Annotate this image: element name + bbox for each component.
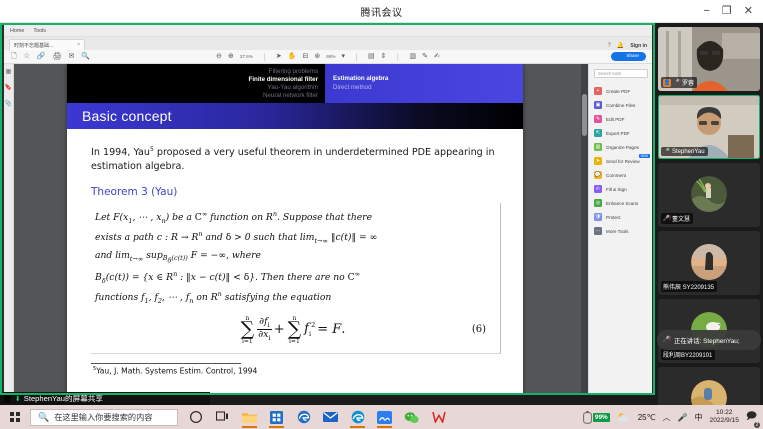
scroll-mode-icon[interactable]: ⇕ xyxy=(381,53,387,60)
participant-tile[interactable]: 🎤̸ 董文慧 xyxy=(658,163,760,227)
close-button[interactable]: ✕ xyxy=(744,6,753,17)
mail-icon[interactable]: ✉ xyxy=(69,53,75,60)
bookmarks-icon[interactable]: 🔖 xyxy=(5,84,12,91)
equation-number: (6) xyxy=(472,324,486,335)
cortana-icon[interactable] xyxy=(182,405,209,429)
slide-title: Basic concept xyxy=(82,108,172,124)
new-badge: NEW xyxy=(639,154,650,158)
start-icon xyxy=(10,412,20,422)
tool-fill-sign[interactable]: ✍ Fill & Sign xyxy=(594,182,648,196)
search-placeholder: 在这里输入你要搜索的内容 xyxy=(54,411,152,423)
participant-name-badge: 🎤̸ 董文慧 xyxy=(661,213,693,224)
microsoft-store-icon[interactable] xyxy=(263,405,290,429)
tool-combine-files[interactable]: ▣ Combine Files xyxy=(594,98,648,112)
ime-indicator[interactable]: 中 xyxy=(695,412,703,423)
nav-item-estimation-algebra[interactable]: Estimation algebra xyxy=(333,75,523,83)
tool-label: Send for Review xyxy=(606,159,640,164)
maximize-button[interactable]: ❐ xyxy=(722,6,732,17)
edit-pdf-icon: ✎ xyxy=(594,115,602,123)
more-tools-icon: ⋯ xyxy=(594,227,602,235)
participant-tile[interactable]: 👤 🎤̸ 罗蓉 xyxy=(658,27,760,91)
acrobat-menubar: Home Tools xyxy=(4,25,652,37)
page-icon[interactable]: 🗋 xyxy=(11,53,17,60)
star-icon[interactable]: ☆ xyxy=(24,53,30,60)
acrobat-window: Home Tools 时刻不忘题基础... × ? 🔔 Sign in 🗋 xyxy=(4,25,652,393)
battery-icon xyxy=(583,411,592,424)
thumbnails-icon[interactable]: ▦ xyxy=(6,68,12,75)
notification-count: 2 xyxy=(754,422,760,428)
nav-item-yau-yau-algorithm[interactable]: Yau-Yau algorithm xyxy=(268,84,318,92)
attachments-icon[interactable]: 📎 xyxy=(5,100,12,107)
document-scrollbar[interactable] xyxy=(581,64,588,393)
avatar-image xyxy=(691,176,727,212)
microphone-icon[interactable]: 🎤 xyxy=(678,413,688,422)
notification-center-icon[interactable]: 🗩 2 xyxy=(746,409,757,426)
participant-name: StephenYau xyxy=(672,149,705,155)
clock[interactable]: 10:22 2022/9/15 xyxy=(710,409,739,425)
protect-icon: 🛡 xyxy=(594,213,602,221)
participant-name: 罗蓉 xyxy=(682,78,694,87)
equals-F: = F. xyxy=(317,322,345,337)
participant-tile[interactable]: 熊伟辰 SY2209135 xyxy=(658,231,760,295)
toolbar-center-group: ⊖ ⊕ 37.6% ➤ ✋ ⊟ ⊛ 68% ▾ ▤ ⇕ ▥ ✎ ✍ xyxy=(216,53,440,61)
meeting-titlebar: 腾讯会议 − ❐ ✕ xyxy=(0,0,763,23)
comment-icon: 💬 xyxy=(594,171,602,179)
nav-item-filtering-problems[interactable]: Filtering problems xyxy=(269,68,318,76)
intro-text-a: In 1994, Yau xyxy=(91,147,150,158)
theorem-block: Let F(x1, ⋯ , xn) be a C∞ function on Rn… xyxy=(91,203,501,353)
mic-muted-icon: 🎤̸ xyxy=(663,337,670,344)
tool-label: More Tools xyxy=(606,229,628,234)
footnote-citation: Yau, J. Math. Systems Estim. Control, 19… xyxy=(96,367,257,376)
battery-percent: 99% xyxy=(593,413,610,422)
tool-protect[interactable]: 🛡 Protect xyxy=(594,210,648,224)
zoom-level[interactable]: 37.6% xyxy=(240,54,253,59)
nav-item-neural-network-filter[interactable]: Neural network filter xyxy=(263,92,318,100)
participant-name-badge: 段利周BY2209101 xyxy=(661,349,715,360)
close-icon[interactable]: × xyxy=(77,42,80,48)
meeting-window-title: 腾讯会议 xyxy=(361,4,403,19)
link-icon[interactable]: 🔗 xyxy=(37,53,46,60)
equation-6: n∑i=1 ∂fi ∂xi + n∑i=1 xyxy=(240,315,346,344)
minimize-button[interactable]: − xyxy=(703,6,709,17)
theorem-heading: Theorem 3 (Yau) xyxy=(91,186,501,198)
share-button[interactable]: 👤 Share xyxy=(611,52,646,61)
slide-title-bar: Basic concept xyxy=(67,103,523,129)
download-icon: ⬇ xyxy=(15,395,21,403)
screen-share-status-bar: 🖥 ⬇ StephenYau的屏幕共享 xyxy=(0,392,210,405)
signature-icon[interactable]: ✍ xyxy=(434,53,440,60)
task-view-icon[interactable] xyxy=(209,405,236,429)
bell-icon[interactable]: 🔔 xyxy=(617,42,624,49)
document-viewport[interactable]: ▦ 🔖 📎 Filtering problems Finite dimensio… xyxy=(4,64,588,393)
partial-derivative-fraction: ∂fi ∂xi xyxy=(257,317,272,344)
scrollbar-thumb[interactable] xyxy=(582,94,587,136)
organize-pages-icon: ▥ xyxy=(594,143,602,151)
search-icon[interactable]: 🔍 xyxy=(81,53,90,60)
search-input[interactable]: 🔍 在这里输入你要搜索的内容 xyxy=(30,409,178,426)
tool-label: Enhance Scans xyxy=(606,201,638,206)
slide-body: In 1994, Yau5 proposed a very useful the… xyxy=(67,129,523,384)
tool-enhance-scans[interactable]: ◎ Enhance Scans xyxy=(594,196,648,210)
help-icon[interactable]: ? xyxy=(608,43,611,49)
sum-limits-1: n∑i=1 xyxy=(240,315,256,344)
tool-comment[interactable]: 💬 Comment xyxy=(594,168,648,182)
f-squared-term: fi2 xyxy=(304,321,315,338)
participant-video-list: 👤 🎤̸ 罗蓉 🎤 StephenYau xyxy=(655,23,763,429)
participant-name-badge: 🎤 StephenYau xyxy=(661,147,708,156)
intro-text-b: proposed a very useful theorem in underd… xyxy=(154,147,409,158)
pdf-page: Filtering problems Finite dimensional fi… xyxy=(67,64,523,393)
hand-icon[interactable]: ✋ xyxy=(288,53,297,60)
edge-icon[interactable] xyxy=(344,405,371,429)
slide-nav-section-right: Estimation algebra Direct method xyxy=(325,64,523,103)
monitor-icon: 🖥 xyxy=(3,395,12,403)
acrobat-tabbar: 时刻不忘题基础... × ? 🔔 Sign in xyxy=(4,37,652,50)
tool-edit-pdf[interactable]: ✎ Edit PDF xyxy=(594,112,648,126)
system-tray: 99% 25℃ ︿ 🎤 中 10:22 2022/9/15 🗩 2 xyxy=(583,405,763,429)
chevron-up-icon[interactable]: ︿ xyxy=(663,412,671,423)
tool-more-tools[interactable]: ⋯ More Tools xyxy=(594,224,648,238)
equation-row: n∑i=1 ∂fi ∂xi + n∑i=1 xyxy=(95,315,490,344)
rotate-icon[interactable]: ⊛ xyxy=(314,53,320,60)
tool-organize-pages[interactable]: ▥ Organize Pages xyxy=(594,140,648,154)
share-label: Share xyxy=(626,54,639,59)
export-pdf-icon: ⇱ xyxy=(594,129,602,137)
slide-nav-section-left: Filtering problems Finite dimensional fi… xyxy=(67,64,325,103)
document-tab-label: 时刻不忘题基础... xyxy=(14,42,53,49)
clock-time: 10:22 xyxy=(710,409,739,417)
send-for-review-icon: ➤ xyxy=(594,157,602,165)
toolbar-divider-3 xyxy=(397,53,398,61)
file-explorer-icon[interactable] xyxy=(236,405,263,429)
toolbar-divider-2 xyxy=(356,53,357,61)
tool-label: Edit PDF xyxy=(606,117,624,122)
weather-icon[interactable] xyxy=(617,412,631,423)
temperature-value: 25℃ xyxy=(638,413,656,422)
slide-navigation-header: Filtering problems Finite dimensional fi… xyxy=(67,64,523,103)
participant-name-badge: 👤 🎤̸ 罗蓉 xyxy=(661,77,697,88)
participant-name: 熊伟辰 SY2209135 xyxy=(663,282,714,291)
tool-create-pdf[interactable]: + Create PDF xyxy=(594,84,648,98)
tool-label: Export PDF xyxy=(606,131,630,136)
mail-icon[interactable] xyxy=(317,405,344,429)
nav-item-direct-method[interactable]: Direct method xyxy=(333,84,523,92)
screen-root: 腾讯会议 − ❐ ✕ Home Tools 时刻不忘题基础... × ? xyxy=(0,0,763,429)
sum-limits-2: n∑i=1 xyxy=(287,315,303,344)
avatar-image xyxy=(691,244,727,280)
tools-search-placeholder: Search tools xyxy=(598,71,621,76)
wechat-icon[interactable] xyxy=(398,405,425,429)
theorem-statement: Let F(x1, ⋯ , xn) be a C∞ function on Rn… xyxy=(95,208,490,308)
zoom-in-icon[interactable]: ⊕ xyxy=(228,53,234,60)
footnote-divider xyxy=(91,363,241,364)
nav-item-finite-dimensional-filter[interactable]: Finite dimensional filter xyxy=(249,76,318,84)
window-controls: − ❐ ✕ xyxy=(703,0,759,23)
enhance-scans-icon: ◎ xyxy=(594,199,602,207)
footnote-text: 5Yau, J. Math. Systems Estim. Control, 1… xyxy=(93,366,257,376)
active-speaker-toast: 🎤̸ 正在讲话: StephenYau; xyxy=(657,330,761,350)
print-icon[interactable]: 🖨 xyxy=(53,53,62,60)
avatar xyxy=(691,244,727,280)
windows-taskbar: 🔍 在这里输入你要搜索的内容 xyxy=(0,405,763,429)
share-status-text: StephenYau的屏幕共享 xyxy=(24,393,103,404)
navigation-rail: ▦ 🔖 📎 xyxy=(4,64,14,393)
acrobat-body: ▦ 🔖 📎 Filtering problems Finite dimensio… xyxy=(4,64,652,393)
mic-muted-icon: 🎤̸ xyxy=(673,79,680,86)
search-icon: 🔍 xyxy=(38,412,49,423)
fit-page-icon[interactable]: ⊟ xyxy=(303,53,309,60)
wps-icon[interactable] xyxy=(425,405,452,429)
participant-name-badge: 熊伟辰 SY2209135 xyxy=(661,281,717,292)
shared-screen-region: Home Tools 时刻不忘题基础... × ? 🔔 Sign in 🗋 xyxy=(0,23,655,395)
acrobat-account-area: ? 🔔 Sign in xyxy=(608,42,648,49)
cursor-icon[interactable]: ➤ xyxy=(276,53,282,60)
tool-send-for-review[interactable]: ➤ Send for Review NEW xyxy=(594,154,648,168)
toolbar-divider xyxy=(264,53,265,61)
document-tab[interactable]: 时刻不忘题基础... × xyxy=(9,39,85,50)
tool-label: Fill & Sign xyxy=(606,187,627,192)
edge-legacy-icon[interactable] xyxy=(290,405,317,429)
active-speaker-text: 正在讲话: StephenYau; xyxy=(674,336,740,345)
start-button[interactable] xyxy=(0,405,30,429)
fill-sign-icon: ✍ xyxy=(594,185,602,193)
combine-files-icon: ▣ xyxy=(594,101,602,109)
clock-date: 2022/9/15 xyxy=(710,417,739,425)
page-fit-value[interactable]: 68% xyxy=(326,54,335,59)
tool-export-pdf[interactable]: ⇱ Export PDF xyxy=(594,126,648,140)
page-layout-icon[interactable]: ▤ xyxy=(368,53,375,60)
zoom-out-icon[interactable]: ⊖ xyxy=(216,53,222,60)
acrobat-tools-pane: Search tools + Create PDF ▣ Combine File… xyxy=(588,64,652,393)
participant-tile[interactable]: 🎤 StephenYau xyxy=(658,95,760,159)
slide-intro-paragraph: In 1994, Yau5 proposed a very useful the… xyxy=(91,143,501,174)
participant-name: 董文慧 xyxy=(672,214,690,223)
host-icon: 👤 xyxy=(663,79,671,87)
toolbar-left-group: 🗋 ☆ 🔗 🖨 ✉ 🔍 xyxy=(4,53,90,60)
tools-search-input[interactable]: Search tools xyxy=(594,69,648,78)
menu-tools[interactable]: Tools xyxy=(33,28,46,34)
participant-name: 段利周BY2209101 xyxy=(663,350,712,359)
mic-on-icon: 🎤 xyxy=(663,148,670,155)
avatar xyxy=(691,176,727,212)
meeting-icon[interactable] xyxy=(371,405,398,429)
menu-home[interactable]: Home xyxy=(10,28,24,34)
chevron-down-icon[interactable]: ▾ xyxy=(341,53,345,60)
tool-label: Create PDF xyxy=(606,89,630,94)
create-pdf-icon: + xyxy=(594,87,602,95)
mic-muted-icon: 🎤̸ xyxy=(663,215,670,222)
share-icon: 👤 xyxy=(618,54,624,59)
tool-label: Comment xyxy=(606,173,626,178)
highlight-icon[interactable]: ▥ xyxy=(409,53,416,60)
battery-indicator[interactable]: 99% xyxy=(583,411,610,424)
tool-label: Organize Pages xyxy=(606,145,639,150)
plus-sign: + xyxy=(274,322,285,337)
taskbar-icons xyxy=(182,405,452,429)
pencil-icon[interactable]: ✎ xyxy=(422,53,428,60)
sign-in-button[interactable]: Sign in xyxy=(630,43,647,49)
acrobat-toolbar: 🗋 ☆ 🔗 🖨 ✉ 🔍 ⊖ ⊕ 37.6% ➤ ✋ ⊟ ⊛ 68% xyxy=(4,50,652,64)
tool-label: Protect xyxy=(606,215,621,220)
tool-label: Combine Files xyxy=(606,103,635,108)
